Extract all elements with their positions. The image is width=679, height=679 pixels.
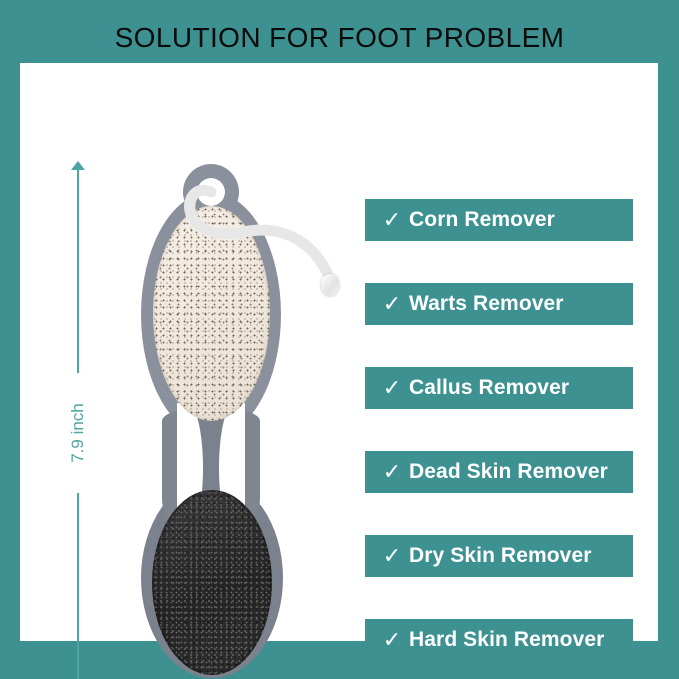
page-title: SOLUTION FOR FOOT PROBLEM [0,22,679,54]
feature-list: ✓ Corn Remover ✓ Warts Remover ✓ Callus … [365,199,633,679]
feature-item-dead-skin-remover[interactable]: ✓ Dead Skin Remover [365,451,633,493]
feature-item-warts-remover[interactable]: ✓ Warts Remover [365,283,633,325]
product-image-foot-file [132,158,372,679]
feature-item-dry-skin-remover[interactable]: ✓ Dry Skin Remover [365,535,633,577]
pumice-stone-pad [153,206,270,421]
check-icon: ✓ [375,545,409,567]
feature-label: Corn Remover [409,208,555,232]
height-dimension-label: 7.9 inch [66,373,90,493]
feature-item-hard-skin-remover[interactable]: ✓ Hard Skin Remover [365,619,633,661]
feature-label: Warts Remover [409,292,564,316]
feature-label: Callus Remover [409,376,569,400]
feature-label: Dry Skin Remover [409,544,592,568]
cord-knot [321,274,339,296]
feature-label: Hard Skin Remover [409,628,604,652]
feature-item-callus-remover[interactable]: ✓ Callus Remover [365,367,633,409]
check-icon: ✓ [375,377,409,399]
hanging-hole [196,177,226,207]
infographic-root: SOLUTION FOR FOOT PROBLEM 7.9 inch 2 inc… [0,0,679,679]
feature-item-corn-remover[interactable]: ✓ Corn Remover [365,199,633,241]
emery-abrasive-pad [152,490,272,675]
content-card: 7.9 inch 2 inch [20,63,658,641]
check-icon: ✓ [375,461,409,483]
check-icon: ✓ [375,629,409,651]
feature-label: Dead Skin Remover [409,460,608,484]
check-icon: ✓ [375,209,409,231]
check-icon: ✓ [375,293,409,315]
